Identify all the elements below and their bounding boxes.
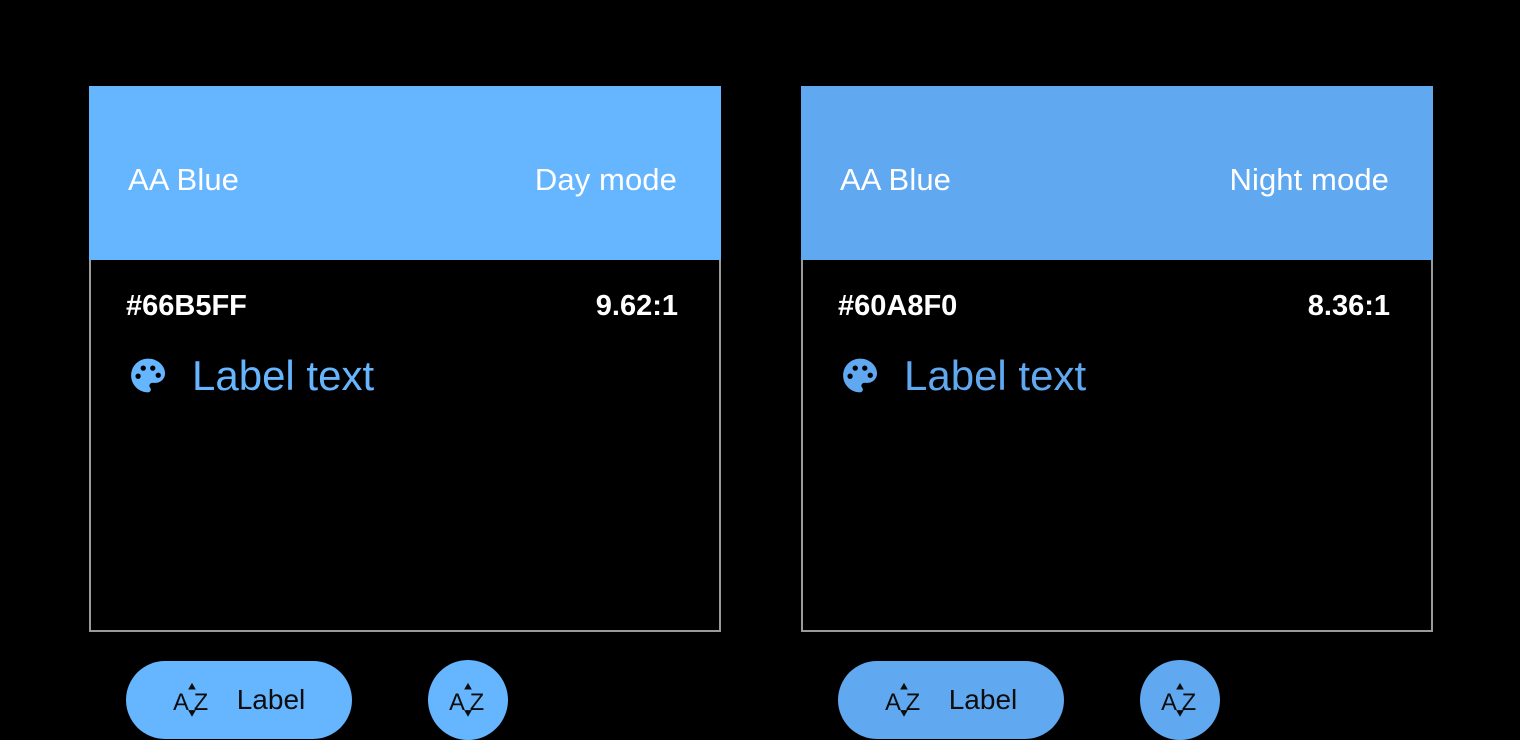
svg-text:A: A <box>885 690 901 716</box>
button-row-day: A Z Label A Z <box>126 660 678 740</box>
card-header-row-day: AA Blue Day mode <box>128 164 677 195</box>
preview-canvas: AA Blue Day mode #66B5FF 9.62:1 Label te… <box>0 0 1520 720</box>
contrast-ratio-night: 8.36:1 <box>1308 292 1390 321</box>
card-mode-label-day: Day mode <box>535 164 677 195</box>
card-title-day: AA Blue <box>128 164 239 195</box>
fab-sort-button-day[interactable]: A Z <box>428 660 508 740</box>
card-header-day: AA Blue Day mode <box>89 86 721 260</box>
svg-text:Z: Z <box>470 690 484 716</box>
hex-value-day: #66B5FF <box>126 292 247 321</box>
sort-alpha-az-icon: A Z <box>1159 679 1201 721</box>
svg-text:A: A <box>173 690 189 716</box>
sort-alpha-az-icon: A Z <box>883 679 925 721</box>
fab-sort-button-night[interactable]: A Z <box>1140 660 1220 740</box>
color-preview-card-night: AA Blue Night mode #60A8F0 8.36:1 Label … <box>801 86 1433 632</box>
svg-text:Z: Z <box>905 690 919 716</box>
labeled-sort-button-label-night: Label <box>949 686 1018 714</box>
card-mode-label-night: Night mode <box>1229 164 1389 195</box>
svg-text:Z: Z <box>193 690 207 716</box>
sort-alpha-az-icon: A Z <box>447 679 489 721</box>
card-header-row-night: AA Blue Night mode <box>840 164 1389 195</box>
hex-value-night: #60A8F0 <box>838 292 957 321</box>
label-sample-row-night: Label text <box>838 354 1086 398</box>
label-sample-row-day: Label text <box>126 354 374 398</box>
svg-text:Z: Z <box>1182 690 1196 716</box>
label-text-night: Label text <box>904 355 1086 397</box>
labeled-sort-button-day[interactable]: A Z Label <box>126 661 352 739</box>
card-title-night: AA Blue <box>840 164 951 195</box>
button-row-night: A Z Label A Z <box>838 660 1390 740</box>
svg-text:A: A <box>1161 690 1177 716</box>
svg-text:A: A <box>449 690 465 716</box>
card-meta-row-day: #66B5FF 9.62:1 <box>126 292 678 321</box>
label-text-day: Label text <box>192 355 374 397</box>
card-body-day: #66B5FF 9.62:1 Label text A Z <box>89 260 721 632</box>
palette-icon <box>838 354 882 398</box>
sort-alpha-az-icon: A Z <box>171 679 213 721</box>
contrast-ratio-day: 9.62:1 <box>596 292 678 321</box>
labeled-sort-button-night[interactable]: A Z Label <box>838 661 1064 739</box>
card-header-night: AA Blue Night mode <box>801 86 1433 260</box>
color-preview-card-day: AA Blue Day mode #66B5FF 9.62:1 Label te… <box>89 86 721 632</box>
palette-icon <box>126 354 170 398</box>
labeled-sort-button-label-day: Label <box>237 686 306 714</box>
card-meta-row-night: #60A8F0 8.36:1 <box>838 292 1390 321</box>
card-body-night: #60A8F0 8.36:1 Label text A Z <box>801 260 1433 632</box>
